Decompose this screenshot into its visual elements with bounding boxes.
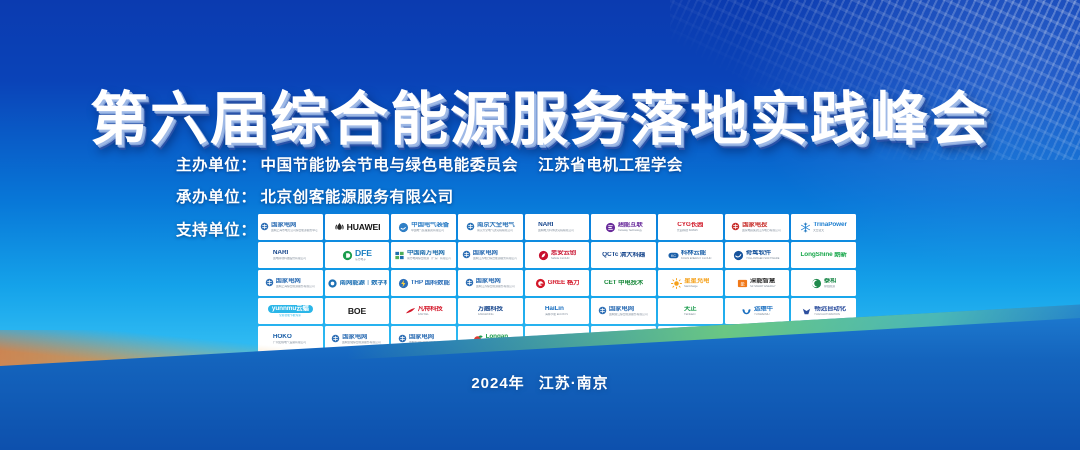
support-logo-22: 国家电网国网江苏综合能源服务有限公司: [458, 270, 523, 296]
support-logo-26: 能深能智慧SZ SMART ENERGY: [725, 270, 790, 296]
logo-text: GREE 格力: [548, 280, 580, 286]
logo-text: 南京大全电气南京大全电气研究院有限公司: [477, 222, 515, 232]
logo-circle-e-icon: [605, 222, 616, 233]
logo-content: 南京大全电气南京大全电气研究院有限公司: [460, 215, 521, 239]
support-logo-23: GREE 格力: [525, 270, 590, 296]
logo-text: 奇鹫软件YOLLOWGEN SOFTWARE: [746, 250, 781, 260]
logo-emblem-icon: [465, 274, 474, 292]
logo-content: 涵能互联Tamway Technology: [593, 215, 654, 239]
logo-swirl-icon: [398, 222, 409, 233]
logo-content: THP 国科数能: [393, 271, 454, 295]
footer-location: 江苏·南京: [539, 375, 609, 392]
support-logo-25: 星星充电StarCharge: [658, 270, 723, 296]
svg-text:KC: KC: [671, 253, 676, 257]
support-logo-12: 中国南方电网南方电网综合能源（广东）有限公司: [391, 242, 456, 268]
logo-text: 南网能源｜数字科技: [340, 280, 388, 286]
support-logo-18: LongShine 朗新: [791, 242, 856, 268]
logo-text: TrinaPower天合蓝天: [813, 222, 846, 232]
logo-emblem-icon: [265, 274, 274, 292]
support-logo-9: TrinaPower天合蓝天: [791, 214, 856, 240]
support-label: 支持单位：: [176, 218, 257, 240]
support-logo-6: 涵能互联Tamway Technology: [591, 214, 656, 240]
support-logo-15: QCTc 清大科越: [591, 242, 656, 268]
logo-sun-icon: [671, 278, 682, 289]
logo-text: 国家电投国家电投集团江苏电力有限公司: [742, 222, 783, 232]
support-logo-8: 国家电投国家电投集团江苏电力有限公司: [725, 214, 790, 240]
logo-text: LongShine 朗新: [800, 252, 846, 258]
support-logo-27: 泰和绿色能源: [791, 270, 856, 296]
logo-kcc-icon: KC: [668, 250, 679, 261]
logo-content: TrinaPower天合蓝天: [793, 215, 854, 239]
support-logo-13: 国家电网国网江苏电力综合能源服务有限公司: [458, 242, 523, 268]
logo-content: 国家电网国网江苏电力综合能源服务有限公司: [460, 243, 521, 267]
logo-text: 思安云创SIACE CLOUD: [551, 250, 576, 260]
logo-content: 国家电网国网江苏综合能源服务有限公司: [460, 271, 521, 295]
support-logo-16: KC科林云能KOLIN ENERGY CLOUD: [658, 242, 723, 268]
logo-content: 国家电投国家电投集团江苏电力有限公司: [727, 215, 788, 239]
logo-text: 国家电网国网上海市电力公司综合能源服务中心: [271, 222, 320, 232]
logo-content: 南网能源｜数字科技: [327, 271, 388, 295]
logo-text: 星星充电StarCharge: [684, 278, 709, 288]
logo-content: 奇鹫软件YOLLOWGEN SOFTWARE: [727, 243, 788, 267]
support-logo-17: 奇鹫软件YOLLOWGEN SOFTWARE: [725, 242, 790, 268]
logo-content: 国家电网国网上海综合能源服务有限公司: [260, 271, 321, 295]
logo-text: 国家电网国网上海综合能源服务有限公司: [276, 278, 317, 288]
footer-meta: 2024年江苏·南京: [0, 372, 1080, 393]
logo-snow-icon: [800, 222, 811, 233]
logo-text: NARI国网电力科学研究院有限公司: [538, 222, 576, 232]
host-label: 主办单位：: [176, 157, 257, 174]
logo-content: 星星充电StarCharge: [660, 271, 721, 295]
support-logo-4: 南京大全电气南京大全电气研究院有限公司: [458, 214, 523, 240]
host-value: 中国节能协会节电与绿色电能委员会: [261, 157, 519, 174]
logo-content: DFE东方电子: [327, 243, 388, 267]
logo-text: 科林云能KOLIN ENERGY CLOUD: [681, 250, 713, 260]
logo-text: DFE东方电子: [355, 249, 372, 262]
logo-content: LongShine 朗新: [793, 243, 854, 267]
organizer-value: 北京创客能源服务有限公司: [261, 189, 454, 206]
conference-banner: 第六届综合能源服务落地实践峰会 主办单位：中国节能协会节电与绿色电能委员会江苏省…: [0, 0, 1080, 450]
logo-text: 中国电气装备中国电气装备集团有限公司: [411, 222, 449, 232]
logo-emblem-icon: [731, 218, 740, 236]
logo-content: CET 中电技术: [593, 271, 654, 295]
logo-content: GREE 格力: [527, 271, 588, 295]
logo-text: HUAWEI: [347, 223, 381, 232]
support-logo-14: 思安云创SIACE CLOUD: [525, 242, 590, 268]
logo-content: 中国电气装备中国电气装备集团有限公司: [393, 215, 454, 239]
logo-dfe-icon: [342, 250, 353, 261]
support-logo-20: 南网能源｜数字科技: [325, 270, 390, 296]
logo-content: KC科林云能KOLIN ENERGY CLOUD: [660, 243, 721, 267]
logo-swirl2-icon: [733, 250, 744, 261]
support-logo-5: NARI国网电力科学研究院有限公司: [525, 214, 590, 240]
support-logo-21: THP 国科数能: [391, 270, 456, 296]
page-title: 第六届综合能源服务落地实践峰会: [0, 72, 1080, 156]
logo-content: 能深能智慧SZ SMART ENERGY: [727, 271, 788, 295]
organizer-line: 承办单位：北京创客能源服务有限公司: [176, 185, 454, 207]
logo-text: CYG长园长园科技 600525: [677, 222, 703, 232]
logo-text: 泰和绿色能源: [824, 278, 837, 288]
svg-text:能: 能: [740, 280, 744, 286]
logo-text: 国家电网国网江苏电力综合能源服务有限公司: [473, 250, 519, 260]
logo-content: 中国南方电网南方电网综合能源（广东）有限公司: [393, 243, 454, 267]
support-logo-1: 国家电网国网上海市电力公司综合能源服务中心: [258, 214, 323, 240]
support-logo-2: HUAWEI: [325, 214, 390, 240]
logo-text: 涵能互联Tamway Technology: [618, 222, 643, 232]
logo-orange-sq-icon: 能: [737, 278, 748, 289]
logo-text: NARI国电南瑞科技股份有限公司: [273, 250, 308, 260]
logo-content: NARI国电南瑞科技股份有限公司: [260, 243, 321, 267]
logo-content: QCTc 清大科越: [593, 243, 654, 267]
logo-dot-icon: [327, 278, 338, 289]
support-logo-19: 国家电网国网上海综合能源服务有限公司: [258, 270, 323, 296]
logo-leaf-icon: [538, 250, 549, 261]
logo-text: QCTc 清大科越: [602, 252, 645, 258]
support-logo-24: CET 中电技术: [591, 270, 656, 296]
logo-content: 思安云创SIACE CLOUD: [527, 243, 588, 267]
support-logo-10: NARI国电南瑞科技股份有限公司: [258, 242, 323, 268]
host-value-2: 江苏省电机工程学会: [538, 157, 683, 174]
logo-text: 中国南方电网南方电网综合能源（广东）有限公司: [407, 250, 453, 260]
logo-huawei-icon: [334, 222, 345, 233]
support-logo-7: CYG长园长园科技 600525: [658, 214, 723, 240]
logo-content: NARI国网电力科学研究院有限公司: [527, 215, 588, 239]
logo-content: CYG长园长园科技 600525: [660, 215, 721, 239]
logo-text: THP 国科数能: [411, 280, 450, 286]
logo-text: CET 中电技术: [604, 280, 643, 286]
logo-emblem-icon: [260, 218, 269, 236]
logo-content: 泰和绿色能源: [793, 271, 854, 295]
organizer-label: 承办单位：: [176, 189, 257, 206]
logo-grid-icon: [394, 250, 405, 261]
support-logo-11: DFE东方电子: [325, 242, 390, 268]
logo-emblem-icon: [466, 218, 475, 236]
logo-text: 深能智慧SZ SMART ENERGY: [750, 278, 777, 288]
footer-year: 2024年: [471, 375, 524, 392]
support-logo-3: 中国电气装备中国电气装备集团有限公司: [391, 214, 456, 240]
logo-content: 国家电网国网上海市电力公司综合能源服务中心: [260, 215, 321, 239]
logo-circle-green-icon: [811, 278, 822, 289]
host-organization-line: 主办单位：中国节能协会节电与绿色电能委员会江苏省电机工程学会: [176, 153, 683, 175]
logo-content: HUAWEI: [327, 215, 388, 239]
logo-thp-icon: [398, 278, 409, 289]
logo-text: 国家电网国网江苏综合能源服务有限公司: [476, 278, 517, 288]
logo-gree-icon: [535, 278, 546, 289]
logo-emblem-icon: [462, 246, 471, 264]
